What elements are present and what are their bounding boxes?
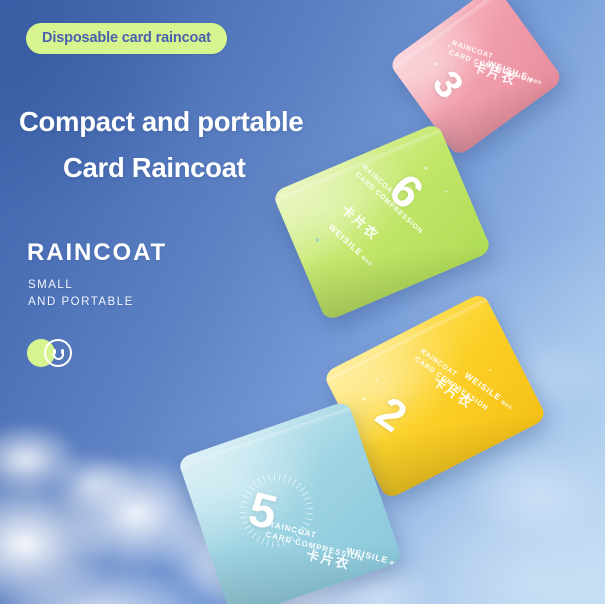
- smiley-logo: [27, 337, 79, 369]
- subhead-line-1: SMALL: [28, 277, 134, 294]
- headline-line-2: Card Raincoat: [63, 152, 246, 184]
- brand-subtext: 维丝乐: [360, 255, 373, 267]
- subhead-line-2: AND PORTABLE: [28, 294, 134, 311]
- subhead-lines: SMALL AND PORTABLE: [28, 277, 134, 311]
- packet-brand: WEISILE维丝乐: [346, 545, 403, 569]
- sparkle: [445, 190, 448, 193]
- sparkle: [362, 397, 366, 401]
- sparkle: [489, 369, 492, 372]
- headline-line-1: Compact and portable: [19, 106, 303, 138]
- product-banner: 3 RAINCOATCARD COMPRESSION 卡片衣 WEISILE维丝…: [0, 0, 605, 604]
- sparkle: [424, 166, 428, 170]
- packet-number: 3: [425, 65, 469, 105]
- smiley-face-icon: [44, 339, 72, 367]
- brand-subtext: 维丝乐: [389, 560, 403, 568]
- sparkle: [315, 238, 318, 241]
- packet-seam: [180, 407, 352, 470]
- subhead-title: RAINCOAT: [27, 239, 167, 267]
- packet-number: 2: [368, 390, 413, 440]
- sparkle: [375, 379, 378, 382]
- promo-badge[interactable]: Disposable card raincoat: [26, 23, 227, 54]
- cloud-left: [0, 394, 156, 544]
- smiley-mouth: [53, 353, 64, 360]
- brand-subtext: 维丝乐: [500, 399, 513, 410]
- brand-name: WEISILE: [346, 545, 390, 565]
- sparkle: [434, 62, 438, 66]
